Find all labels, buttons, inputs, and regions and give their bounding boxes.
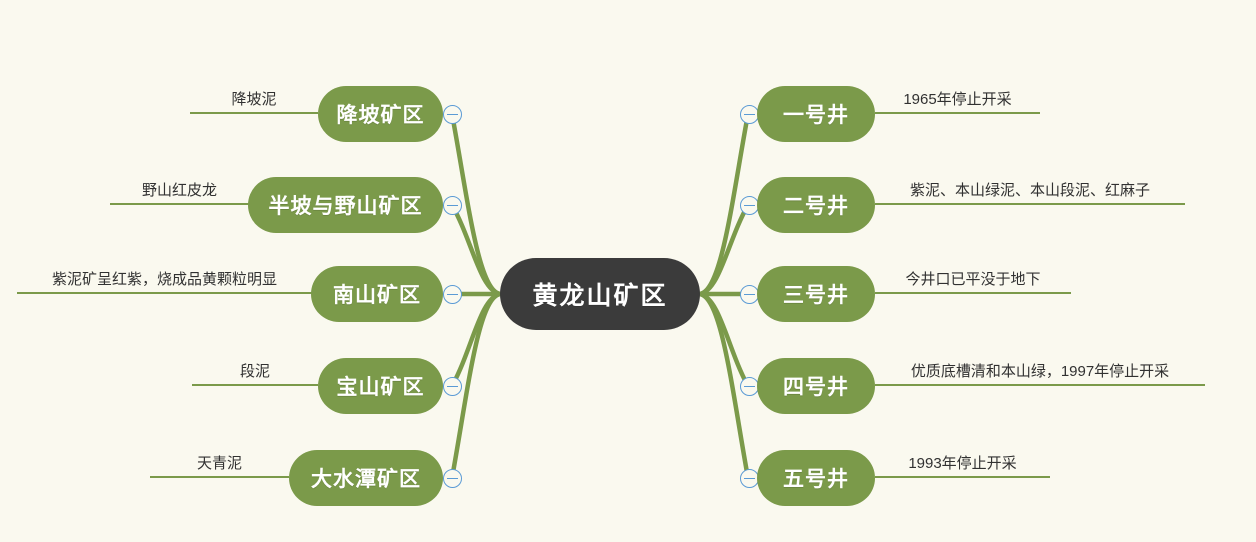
connector-left-2 <box>452 205 500 294</box>
leaf-label-right-5[interactable]: 1993年停止开采 <box>875 448 1050 478</box>
branch-node-right-5[interactable]: 五号井 <box>757 450 875 506</box>
leaf-text: 紫泥、本山绿泥、本山段泥、红麻子 <box>910 182 1150 200</box>
leaf-text: 野山红皮龙 <box>142 182 217 200</box>
leaf-label-left-2[interactable]: 野山红皮龙 <box>110 175 249 205</box>
leaf-text: 紫泥矿呈红紫，烧成品黄颗粒明显 <box>52 271 277 289</box>
branch-node-left-2[interactable]: 半坡与野山矿区 <box>248 177 443 233</box>
branch-node-left-4[interactable]: 宝山矿区 <box>318 358 443 414</box>
branch-node-label: 南山矿区 <box>333 279 421 309</box>
branch-node-label: 一号井 <box>783 99 849 129</box>
branch-node-left-1[interactable]: 降坡矿区 <box>318 86 443 142</box>
leaf-label-left-1[interactable]: 降坡泥 <box>190 84 318 114</box>
mindmap-canvas: 黄龙山矿区 降坡泥 野山红皮龙 紫泥矿呈红紫，烧成品黄颗粒明显 段泥 天青泥 降… <box>0 0 1256 542</box>
leaf-text: 段泥 <box>240 363 270 381</box>
leaf-text: 1965年停止开采 <box>903 91 1011 109</box>
branch-node-label: 半坡与野山矿区 <box>269 190 423 220</box>
leaf-label-left-3[interactable]: 紫泥矿呈红紫，烧成品黄颗粒明显 <box>17 264 312 294</box>
branch-node-right-2[interactable]: 二号井 <box>757 177 875 233</box>
collapse-icon-left-4[interactable] <box>443 377 462 396</box>
branch-node-label: 四号井 <box>783 371 849 401</box>
branch-node-label: 宝山矿区 <box>337 371 425 401</box>
leaf-label-right-2[interactable]: 紫泥、本山绿泥、本山段泥、红麻子 <box>875 175 1185 205</box>
branch-node-label: 大水潭矿区 <box>311 463 421 493</box>
leaf-text: 降坡泥 <box>231 91 276 109</box>
branch-node-left-5[interactable]: 大水潭矿区 <box>289 450 443 506</box>
collapse-icon-left-2[interactable] <box>443 196 462 215</box>
connector-right-2 <box>700 205 748 294</box>
leaf-label-right-3[interactable]: 今井口已平没于地下 <box>875 264 1071 294</box>
root-node[interactable]: 黄龙山矿区 <box>500 258 700 330</box>
leaf-label-right-4[interactable]: 优质底槽清和本山绿，1997年停止开采 <box>875 356 1205 386</box>
branch-node-left-3[interactable]: 南山矿区 <box>311 266 443 322</box>
branch-node-right-3[interactable]: 三号井 <box>757 266 875 322</box>
branch-node-label: 二号井 <box>783 190 849 220</box>
connector-right-4 <box>700 294 748 386</box>
leaf-text: 优质底槽清和本山绿，1997年停止开采 <box>911 363 1169 381</box>
leaf-text: 今井口已平没于地下 <box>905 271 1040 289</box>
leaf-text: 天青泥 <box>197 455 242 473</box>
branch-node-right-1[interactable]: 一号井 <box>757 86 875 142</box>
leaf-label-left-5[interactable]: 天青泥 <box>150 448 289 478</box>
branch-node-label: 三号井 <box>783 279 849 309</box>
leaf-label-left-4[interactable]: 段泥 <box>192 356 318 386</box>
root-node-label: 黄龙山矿区 <box>532 276 667 312</box>
branch-node-right-4[interactable]: 四号井 <box>757 358 875 414</box>
collapse-icon-left-5[interactable] <box>443 469 462 488</box>
collapse-icon-left-3[interactable] <box>443 285 462 304</box>
collapse-icon-left-1[interactable] <box>443 105 462 124</box>
branch-node-label: 五号井 <box>783 463 849 493</box>
leaf-text: 1993年停止开采 <box>908 455 1016 473</box>
connector-left-4 <box>452 294 500 386</box>
branch-node-label: 降坡矿区 <box>337 99 425 129</box>
leaf-label-right-1[interactable]: 1965年停止开采 <box>875 84 1040 114</box>
